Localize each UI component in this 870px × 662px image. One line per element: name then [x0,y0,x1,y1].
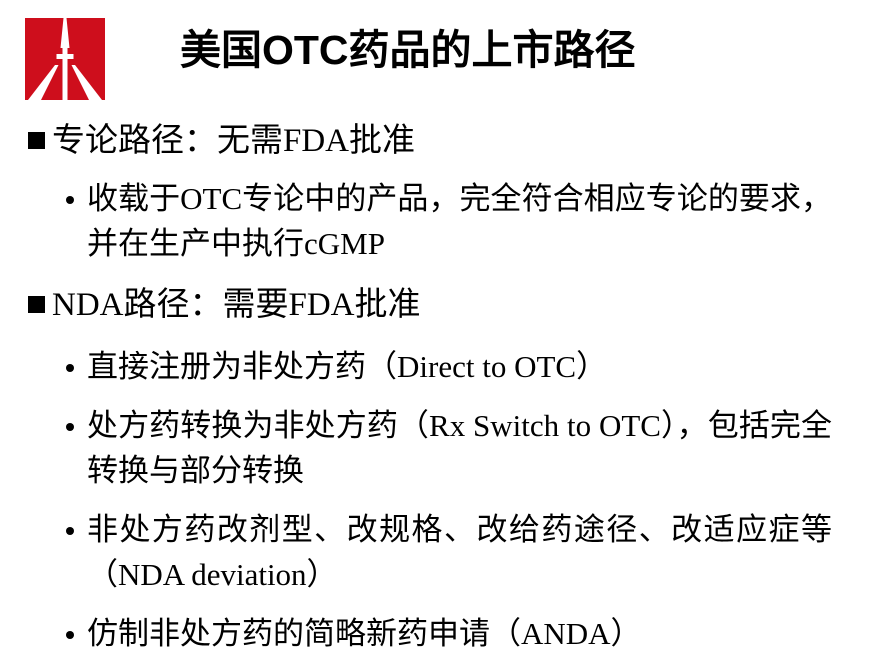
round-bullet-icon [66,196,74,204]
section-heading-nda: NDA路径：需要FDA批准 [0,282,870,328]
square-bullet-icon [28,132,45,149]
section-heading-monograph: 专论路径：无需FDA批准 [0,118,870,164]
list-item: 收载于OTC专论中的产品，完全符合相应专论的要求，并在生产中执行cGMP [0,176,870,266]
list-item: 处方药转换为非处方药（Rx Switch to OTC），包括完全转换与部分转换 [0,403,870,493]
slide-canvas: 美国OTC药品的上市路径 专论路径：无需FDA批准 收载于OTC专论中的产品，完… [0,0,870,634]
tower-logo [25,18,105,100]
round-bullet-icon [66,423,74,431]
list-item: 非处方药改剂型、改规格、改给药途径、改适应症等（NDA deviation） [0,507,870,597]
page-title: 美国OTC药品的上市路径 [180,22,780,78]
slide-body: 专论路径：无需FDA批准 收载于OTC专论中的产品，完全符合相应专论的要求，并在… [0,118,870,662]
list-item-label: 直接注册为非处方药（Direct to OTC） [87,344,607,389]
slide-header: 美国OTC药品的上市路径 [0,0,870,112]
round-bullet-icon [66,527,74,535]
section-heading-label: 专论路径：无需FDA批准 [52,118,415,164]
list-item: 直接注册为非处方药（Direct to OTC） [0,344,870,389]
list-item-label: 收载于OTC专论中的产品，完全符合相应专论的要求，并在生产中执行cGMP [87,176,832,266]
round-bullet-icon [66,631,74,639]
list-item-label: 非处方药改剂型、改规格、改给药途径、改适应症等（NDA deviation） [87,507,832,597]
list-item-label: 处方药转换为非处方药（Rx Switch to OTC），包括完全转换与部分转换 [87,403,832,493]
section-heading-label: NDA路径：需要FDA批准 [52,282,421,328]
round-bullet-icon [66,364,74,372]
square-bullet-icon [28,296,45,313]
